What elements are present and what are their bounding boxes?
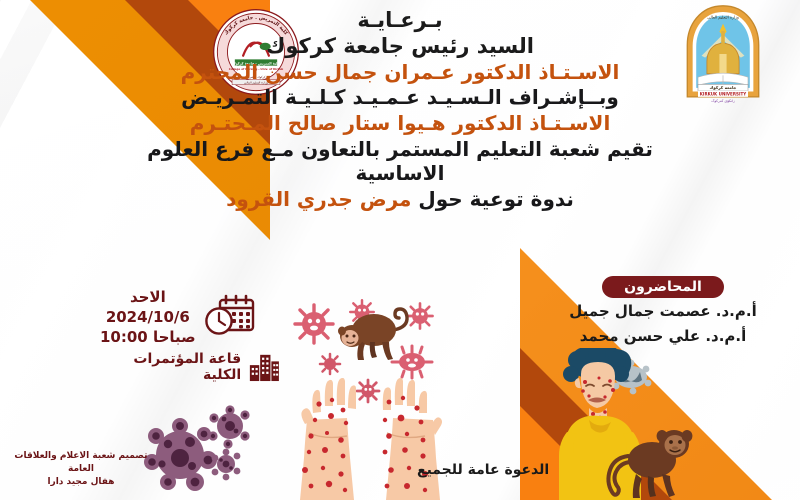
building-icon xyxy=(248,352,280,382)
headline-line-seminar-topic: ندوة توعية حول مرض جدري القرود xyxy=(120,188,680,212)
lecturers-badge: المحاضرون xyxy=(602,276,724,298)
lecturers-block: المحاضرون أ.م.د. عصمت جمال جميل أ.م.د. ع… xyxy=(548,276,778,348)
headline-line-president-name: الاسـتـاذ الدكتور عـمران جمال حسن المحتر… xyxy=(120,61,680,85)
lecturer-name: أ.م.د. علي حسن محمد xyxy=(548,326,778,348)
headline-line-patronage: بـرعـايـة xyxy=(120,8,680,33)
svg-text:KIRKUK UNIVERSITY: KIRKUK UNIVERSITY xyxy=(700,91,747,96)
svg-text:زانكۆی کەرکوک: زانكۆی کەرکوک xyxy=(711,98,735,103)
credit-department: تصميم شعبة الاعلام والعلاقات العامة xyxy=(6,450,156,476)
seminar-topic-prefix: ندوة توعية حول xyxy=(411,187,574,211)
monkey-illustration xyxy=(600,418,705,500)
headline-line-dean-name: الاسـتـاذ الدكتور هـيوا ستار صالح المـحت… xyxy=(120,112,680,136)
event-date: 2024/10/6 xyxy=(100,308,196,328)
open-invitation-text: الدعوة عامة للجميع xyxy=(417,462,549,478)
headline-line-supervision: وبــإشـراف الـسـيـد عـمـيـد كـلـيـة التم… xyxy=(120,86,680,110)
monkey-illustration xyxy=(330,300,418,370)
seminar-topic-highlight: مرض جدري القرود xyxy=(226,187,411,211)
headline-line-president-title: السيد رئيس جامعة كركوك xyxy=(120,34,680,59)
kirkuk-university-logo: جامعة كركوك KIRKUK UNIVERSITY زانكۆی کەر… xyxy=(678,4,768,104)
headline-block: بـرعـايـة السيد رئيس جامعة كركوك الاسـتـ… xyxy=(120,8,680,211)
credit-designer: هفال مجيد دارا xyxy=(6,476,156,489)
hands-with-rash-illustration xyxy=(285,378,455,500)
svg-text:جامعة كركوك: جامعة كركوك xyxy=(710,85,737,90)
event-info-block: الاحد 2024/10/6 صباحا 10:00 xyxy=(100,288,280,383)
event-venue: قاعة المؤتمرات الكلية xyxy=(100,351,241,383)
lecturer-name: أ.م.د. عصمت جمال جميل xyxy=(548,301,778,323)
headline-line-organizer: تقيم شعبة التعليم المستمر بالتعاون مـع ف… xyxy=(120,138,680,185)
event-day: الاحد xyxy=(100,288,196,308)
purple-virus-particles xyxy=(138,400,273,495)
design-credits: تصميم شعبة الاعلام والعلاقات العامة هفال… xyxy=(6,450,156,489)
calendar-clock-icon xyxy=(204,294,256,342)
svg-text:وزارة التعليم العالي: وزارة التعليم العالي xyxy=(707,14,739,19)
event-time: صباحا 10:00 xyxy=(100,328,196,348)
poster-canvas: كلية التمريض . جامعة كركوك كلية التمريض … xyxy=(0,0,800,500)
event-datetime: الاحد 2024/10/6 صباحا 10:00 xyxy=(100,288,196,347)
